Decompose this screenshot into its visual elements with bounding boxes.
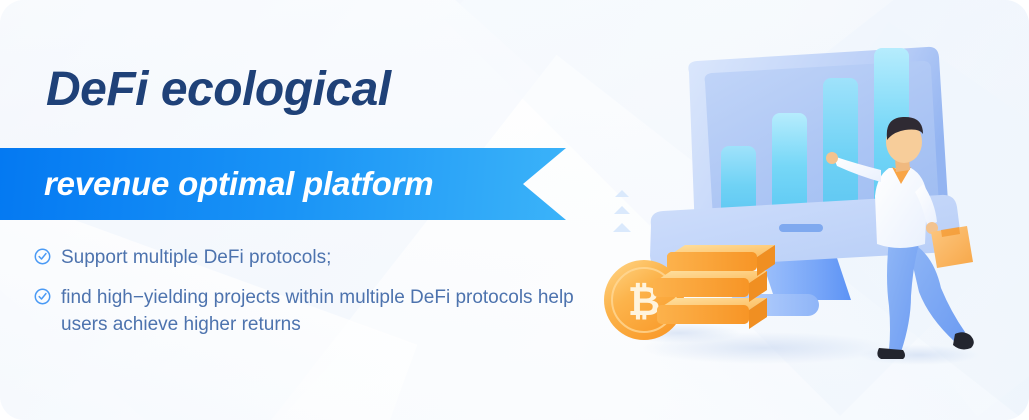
person-leg-front — [887, 240, 919, 352]
monitor-indicator — [779, 224, 823, 232]
chart-bar-3 — [823, 78, 858, 219]
coin-stack — [653, 245, 775, 329]
feature-bullet-list: Support multiple DeFi protocols; find hi… — [34, 244, 574, 351]
bullet-text: find high−yielding projects within multi… — [61, 284, 574, 339]
bullet-text: Support multiple DeFi protocols; — [61, 244, 331, 272]
check-circle-icon — [34, 248, 51, 265]
list-item: Support multiple DeFi protocols; — [34, 244, 574, 272]
banner-headline: DeFi ecological — [46, 62, 391, 117]
banner-text-column: DeFi ecological revenue optimal platform… — [0, 0, 600, 420]
check-circle-icon — [34, 288, 51, 305]
person-hand-raised — [826, 152, 838, 164]
banner-ribbon: revenue optimal platform — [0, 148, 566, 220]
ascending-arrows-icon — [613, 190, 631, 232]
defi-dashboard-illustration: ₿ — [589, 0, 1029, 420]
banner-ribbon-text: revenue optimal platform — [44, 165, 433, 203]
list-item: find high−yielding projects within multi… — [34, 284, 574, 339]
person-shoe-right — [953, 332, 974, 349]
promo-banner: DeFi ecological revenue optimal platform… — [0, 0, 1029, 420]
